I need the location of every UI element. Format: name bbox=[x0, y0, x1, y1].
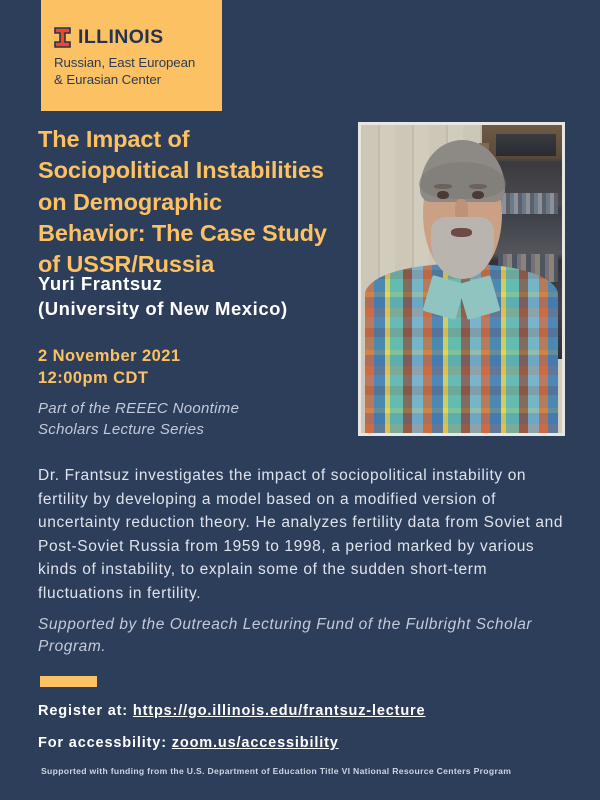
funding-footer: Supported with funding from the U.S. Dep… bbox=[41, 766, 581, 776]
event-datetime: 2 November 2021 12:00pm CDT bbox=[38, 346, 358, 390]
title-line-3: on Demographic bbox=[38, 187, 350, 218]
photo-shelf-books-upper bbox=[498, 193, 558, 215]
title-line-2: Sociopolitical Instabilities bbox=[38, 155, 350, 186]
photo-eyebrow-left bbox=[434, 184, 452, 190]
register-link[interactable]: https://go.illinois.edu/frantsuz-lecture bbox=[133, 703, 426, 719]
speaker-name: Yuri Frantsuz bbox=[38, 272, 358, 297]
speaker-portrait-frame bbox=[358, 122, 565, 436]
event-date: 2 November 2021 bbox=[38, 346, 358, 368]
speaker-block: Yuri Frantsuz (University of New Mexico) bbox=[38, 272, 358, 322]
register-label: Register at: bbox=[38, 703, 128, 719]
logo-unit-line-1: Russian, East European bbox=[54, 54, 214, 71]
photo-eyebrow-right bbox=[469, 184, 487, 190]
event-time: 12:00pm CDT bbox=[38, 368, 358, 390]
series-line-1: Part of the REEEC Noontime bbox=[38, 399, 358, 420]
photo-shelf-box bbox=[496, 134, 556, 156]
accessibility-label: For accessbility: bbox=[38, 735, 167, 751]
photo-mouth bbox=[451, 228, 471, 237]
logo-wordmark-row: ILLINOIS bbox=[54, 27, 214, 48]
event-poster: ILLINOIS Russian, East European & Eurasi… bbox=[0, 0, 600, 800]
accessibility-link[interactable]: zoom.us/accessibility bbox=[172, 735, 339, 751]
title-line-1: The Impact of bbox=[38, 124, 350, 155]
funding-support-note: Supported by the Outreach Lecturing Fund… bbox=[38, 614, 538, 659]
logo-inner: ILLINOIS Russian, East European & Eurasi… bbox=[54, 27, 214, 88]
gold-divider-bar bbox=[40, 676, 97, 687]
illinois-block-i-icon bbox=[54, 27, 71, 48]
photo-eye-right bbox=[472, 191, 484, 199]
speaker-portrait-photo bbox=[361, 125, 562, 433]
register-line: Register at: https://go.illinois.edu/fra… bbox=[38, 703, 425, 719]
photo-hair-shadow bbox=[419, 162, 505, 199]
speaker-affiliation: (University of New Mexico) bbox=[38, 297, 358, 322]
illinois-wordmark: ILLINOIS bbox=[78, 28, 164, 48]
accessibility-line: For accessbility: zoom.us/accessibility bbox=[38, 735, 339, 751]
logo-unit-line-2: & Eurasian Center bbox=[54, 71, 214, 88]
logo-unit-name: Russian, East European & Eurasian Center bbox=[54, 54, 214, 88]
illinois-logo-block: ILLINOIS Russian, East European & Eurasi… bbox=[41, 0, 222, 111]
title-line-4: Behavior: The Case Study bbox=[38, 218, 350, 249]
lecture-abstract: Dr. Frantsuz investigates the impact of … bbox=[38, 464, 565, 605]
series-line-2: Scholars Lecture Series bbox=[38, 420, 358, 441]
lecture-title: The Impact of Sociopolitical Instabiliti… bbox=[38, 124, 350, 280]
lecture-series-note: Part of the REEEC Noontime Scholars Lect… bbox=[38, 399, 358, 440]
